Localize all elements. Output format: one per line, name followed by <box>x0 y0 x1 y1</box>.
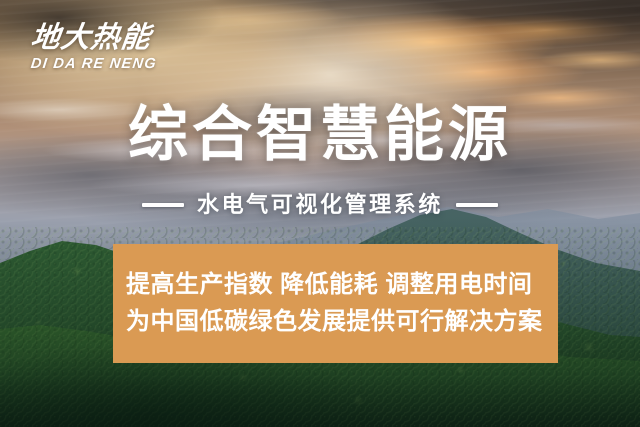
subtitle-left-rule <box>142 203 184 207</box>
page-title: 综合智慧能源 <box>0 104 640 167</box>
brand-logo: 地大热能 DI DA RE NENG <box>29 24 161 72</box>
subtitle-right-rule <box>456 203 498 207</box>
callout-line-2: 为中国低碳绿色发展提供可行解决方案 <box>126 304 558 340</box>
promo-poster: 地大热能 DI DA RE NENG 综合智慧能源 水电气可视化管理系统 提高生… <box>0 0 640 427</box>
subtitle-text: 水电气可视化管理系统 <box>197 194 443 216</box>
brand-logo-cn: 地大热能 <box>29 24 165 53</box>
brand-logo-en: DI DA RE NENG <box>30 57 163 72</box>
page-subtitle: 水电气可视化管理系统 <box>0 194 640 216</box>
callout-line-1: 提高生产指数 降低能耗 调整用电时间 <box>126 267 558 303</box>
highlight-callout-box: 提高生产指数 降低能耗 调整用电时间 为中国低碳绿色发展提供可行解决方案 <box>113 244 558 363</box>
